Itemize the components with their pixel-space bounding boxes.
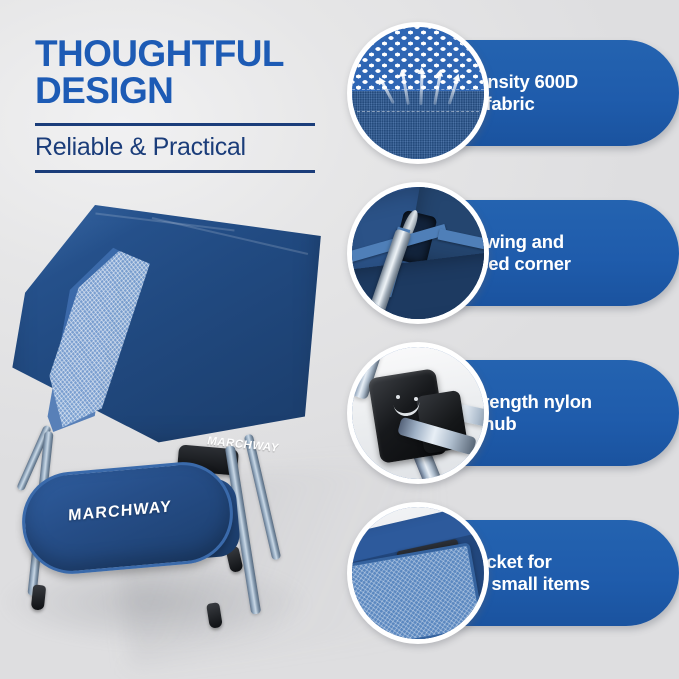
product-feature-infographic: THOUGHTFUL DESIGN Reliable & Practical M… [0,0,679,679]
page-subtitle: Reliable & Practical [35,134,335,162]
feature-thumbnail-fabric[interactable] [347,22,489,164]
feature-callout-sewing[interactable]: Neat sewing and reinforced corner [347,182,679,324]
divider-bottom [35,170,315,173]
feature-callout-hub[interactable]: High strength nylon plastic hub [347,342,679,484]
divider-top [35,123,315,126]
chair-foot-front-left [31,584,47,610]
feature-thumbnail-pocket[interactable] [347,502,489,644]
feature-thumbnail-hub[interactable] [347,342,489,484]
side-pocket-icon [352,507,484,639]
heading-block: THOUGHTFUL DESIGN Reliable & Practical [35,36,335,173]
nylon-hub-icon [352,347,484,479]
chair-foot-front-right [206,602,223,629]
feature-callout-pocket[interactable]: Side pocket for holding small items [347,502,679,644]
feature-callout-fabric[interactable]: High density 600D Oxford fabric [347,22,679,164]
feature-thumbnail-sewing[interactable] [347,182,489,324]
page-title-line2: DESIGN [35,73,335,110]
page-title-line1: THOUGHTFUL [35,36,335,73]
mesh-fabric-icon [352,27,484,159]
stitched-corner-icon [352,187,484,319]
product-image-chair: MARCHWAY MARCHWAY [0,195,345,665]
